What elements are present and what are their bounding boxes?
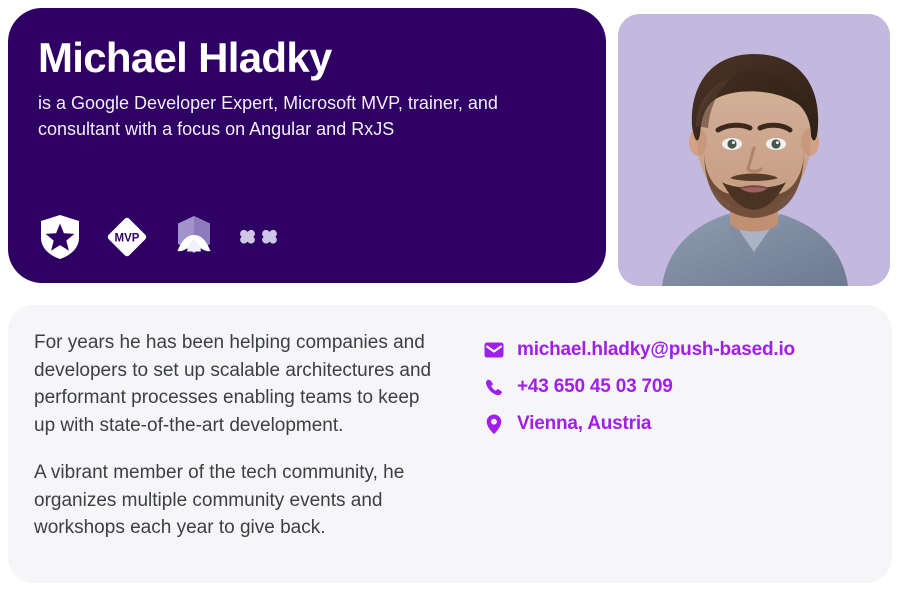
profile-card-page: Michael Hladky is a Google Developer Exp… (0, 0, 900, 593)
page-title: Michael Hladky (38, 34, 576, 81)
google-developer-expert-badge-icon (172, 213, 216, 261)
email-value: michael.hladky@push-based.io (517, 339, 795, 361)
svg-text:MVP: MVP (115, 233, 140, 245)
avatar (618, 14, 890, 286)
auth0-shield-badge-icon (38, 214, 82, 260)
phone-icon (484, 377, 504, 397)
code-badge-icon (238, 222, 280, 252)
bio-column: For years he has been helping companies … (26, 329, 456, 559)
hero-card: Michael Hladky is a Google Developer Exp… (8, 8, 606, 283)
badge-row: MVP (38, 213, 280, 261)
map-pin-icon (484, 414, 504, 434)
location-value: Vienna, Austria (517, 413, 651, 435)
contact-column: michael.hladky@push-based.io +43 650 45 … (484, 329, 862, 559)
contact-phone[interactable]: +43 650 45 03 709 (484, 376, 862, 398)
info-panel: For years he has been helping companies … (8, 305, 892, 583)
hero-subtitle: is a Google Developer Expert, Microsoft … (38, 91, 576, 142)
bio-paragraph: A vibrant member of the tech community, … (34, 459, 434, 542)
microsoft-mvp-badge-icon: MVP (104, 214, 150, 260)
envelope-icon (484, 340, 504, 360)
phone-value: +43 650 45 03 709 (517, 376, 673, 398)
contact-email[interactable]: michael.hladky@push-based.io (484, 339, 862, 361)
bio-paragraph: For years he has been helping companies … (34, 329, 434, 439)
contact-location[interactable]: Vienna, Austria (484, 413, 862, 435)
